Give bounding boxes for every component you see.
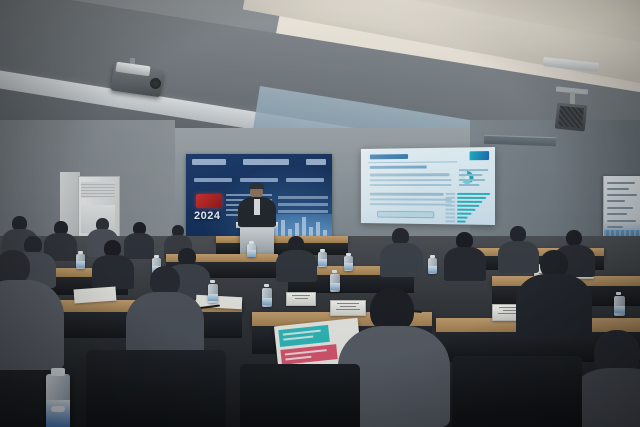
slide-bar-label [446, 201, 456, 203]
conference-room-photo: 2024 [0, 0, 640, 427]
chair-back [452, 356, 582, 427]
chair-back [240, 364, 360, 427]
banner-emblem-icon [196, 194, 222, 208]
screen-glare [361, 147, 495, 225]
water-bottle-cap [51, 368, 65, 376]
water-bottle-brand-mark [51, 406, 65, 412]
slide-bar-label [446, 216, 456, 218]
name-card-tent [330, 300, 366, 316]
banner-tagline-segment [240, 178, 278, 182]
banner-logo-center [243, 159, 289, 165]
speaker-mesh [558, 106, 584, 128]
presenter-hair [249, 183, 264, 189]
projection-screen [361, 147, 495, 225]
slide-bar-label [446, 209, 456, 211]
banner-subtitle-block [278, 196, 328, 214]
banner-tagline [190, 178, 328, 182]
banner-tagline-segment [286, 178, 324, 182]
air-conditioner-grille [81, 182, 115, 198]
table-row [216, 236, 348, 243]
banner-logo-right [306, 159, 326, 165]
banner-tagline-segment [194, 178, 232, 182]
water-bottle-label [46, 400, 70, 427]
presenter-shirt [254, 199, 260, 215]
slide-bar-label [446, 205, 456, 207]
podium [240, 226, 274, 256]
banner-year: 2024 [194, 210, 220, 222]
chair-back [86, 350, 226, 427]
banner-logo-left [192, 159, 226, 165]
slide-bar-label [446, 197, 456, 199]
slide-bar-label [446, 212, 456, 214]
document-sheet [74, 287, 117, 304]
name-card-tent [286, 292, 316, 306]
slide-bar-label [446, 220, 456, 222]
slide-bar-label [446, 193, 456, 195]
banner-sponsor-logos [190, 157, 328, 166]
